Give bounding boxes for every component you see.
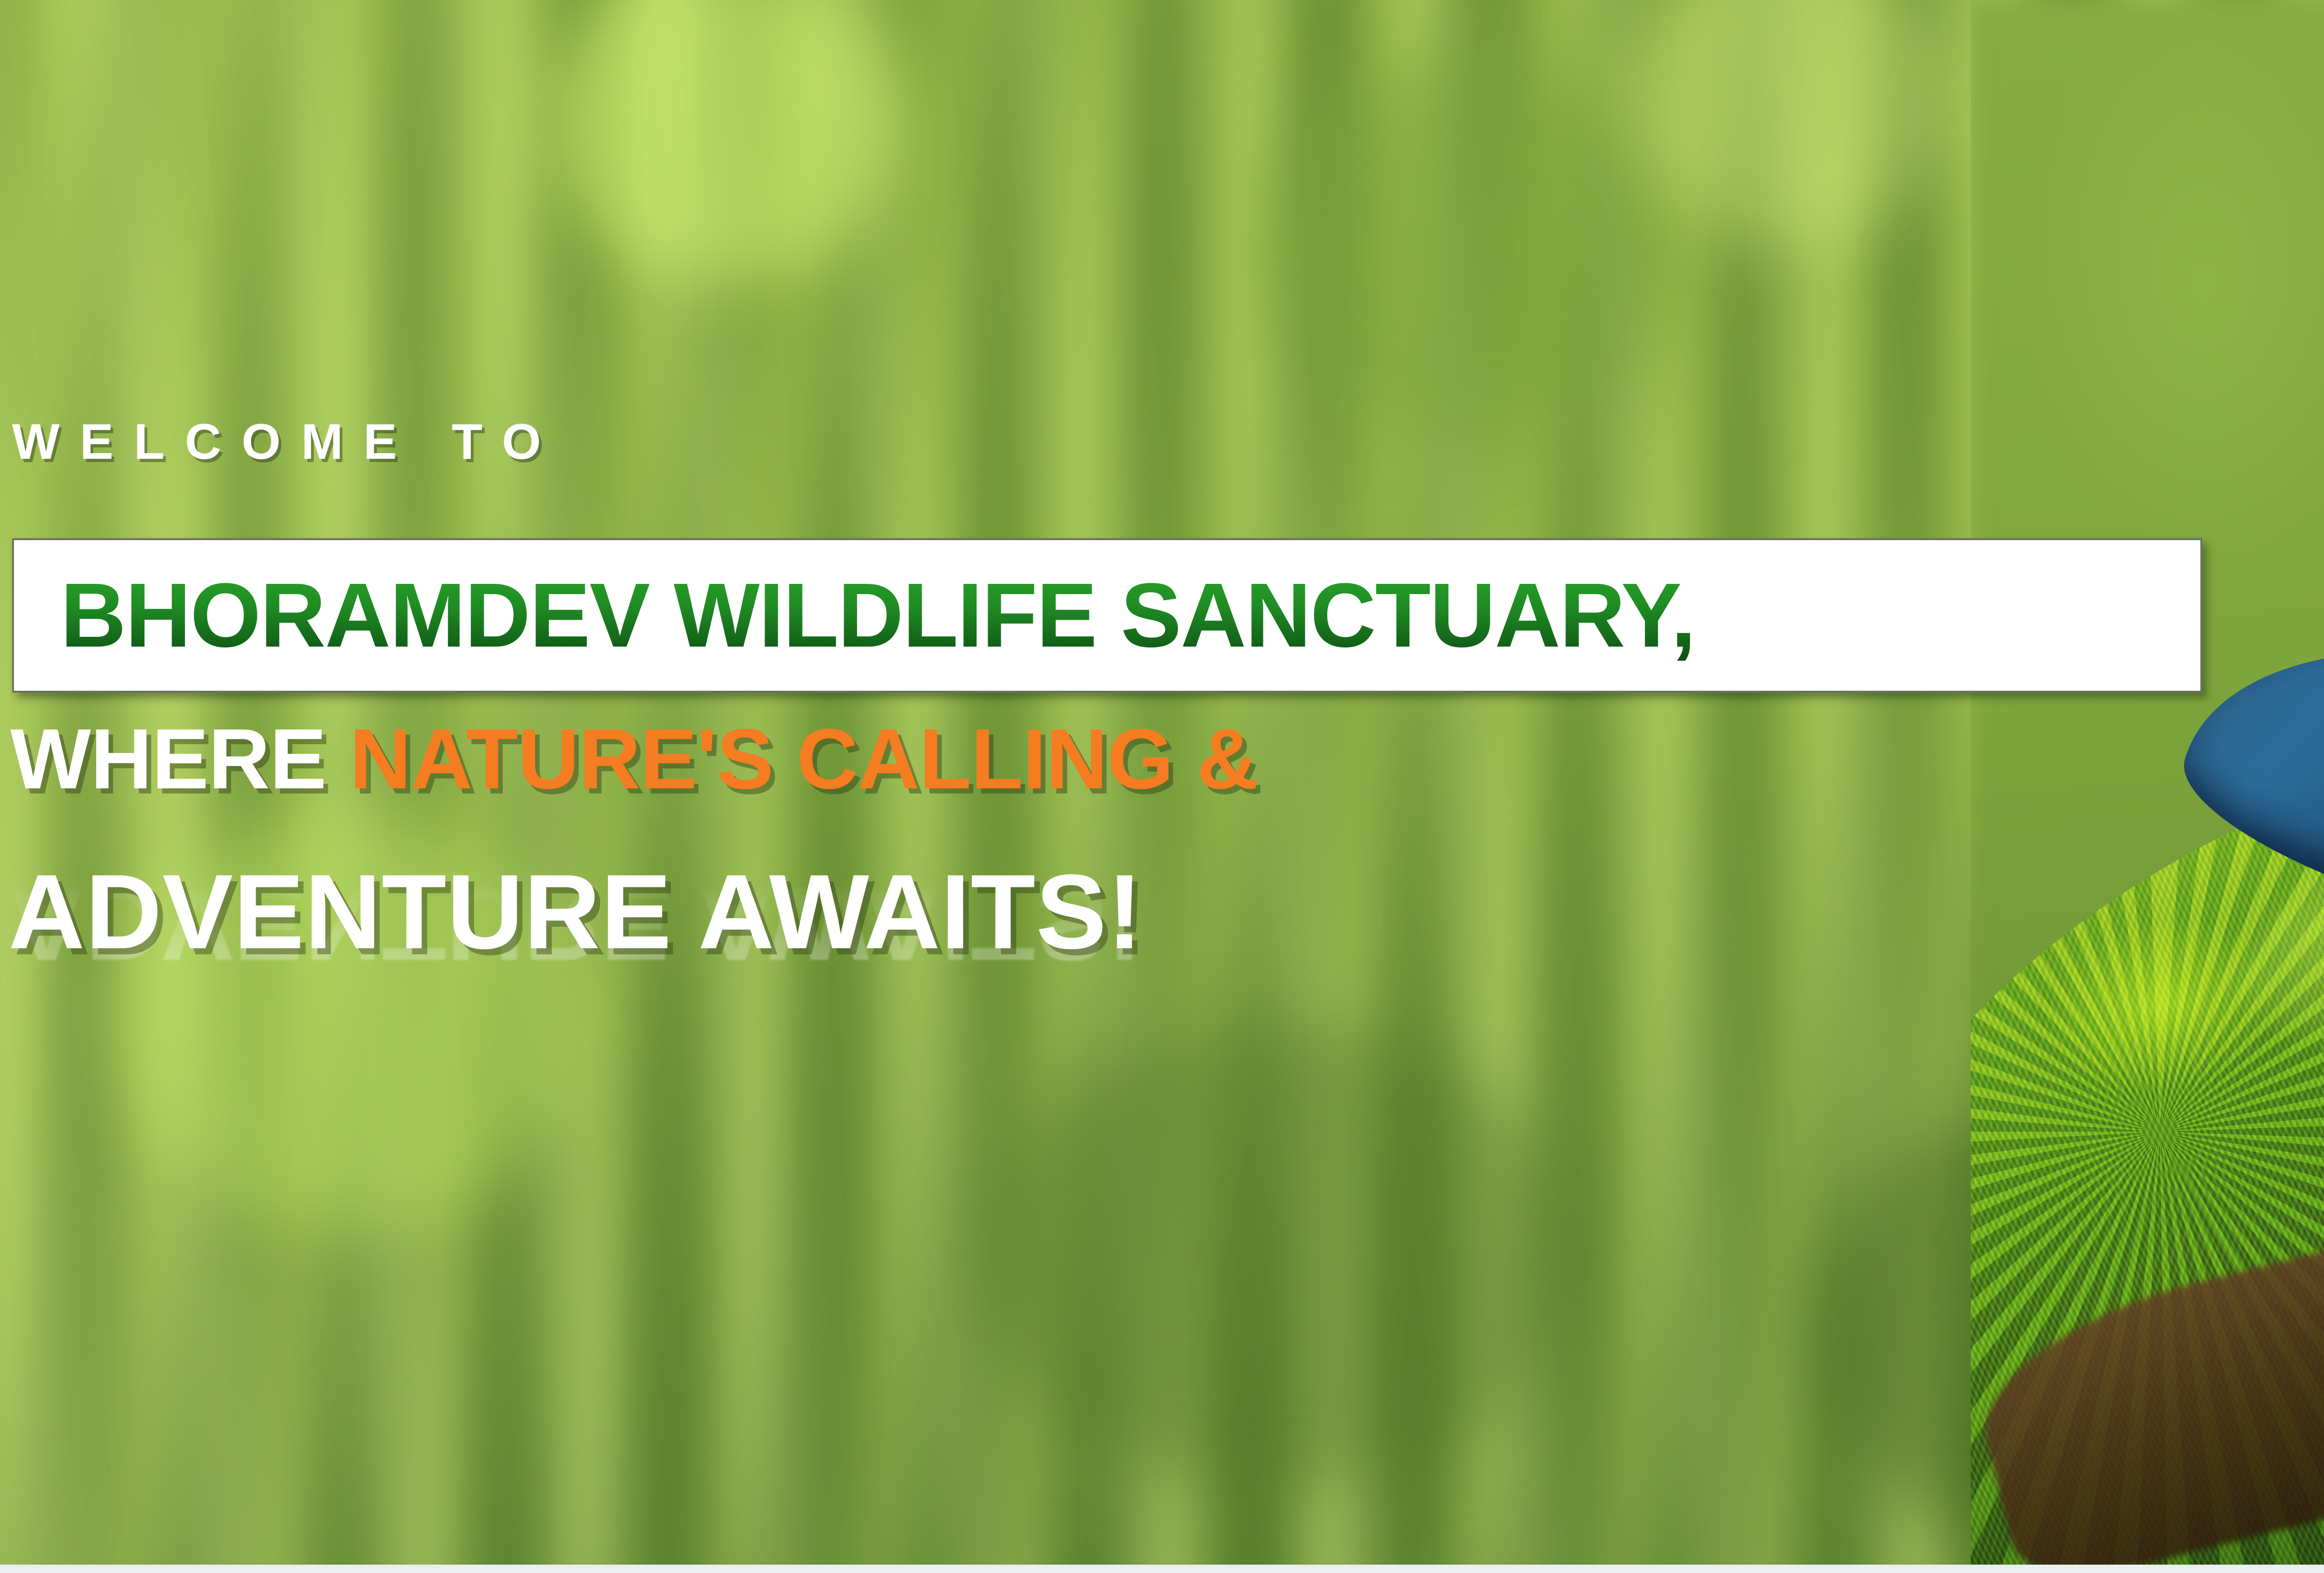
tagline-text: ADVENTURE AWAITS! [8,859,1143,965]
subtitle-line: WHERE NATURE'S CALLING & [10,716,1258,801]
hero-banner: WELCOME TO BHORAMDEV WILDLIFE SANCTUARY,… [0,0,2324,1573]
title-band: BHORAMDEV WILDLIFE SANCTUARY, [12,538,2202,693]
subtitle-prefix: WHERE [10,711,350,806]
page-title: BHORAMDEV WILDLIFE SANCTUARY, [60,570,1695,661]
eyebrow-text: WELCOME TO [12,416,561,467]
subtitle-accent: NATURE'S CALLING & [350,711,1258,806]
headline-copy: WELCOME TO BHORAMDEV WILDLIFE SANCTUARY,… [0,0,2278,1573]
page-bottom-strip [0,1565,2324,1573]
